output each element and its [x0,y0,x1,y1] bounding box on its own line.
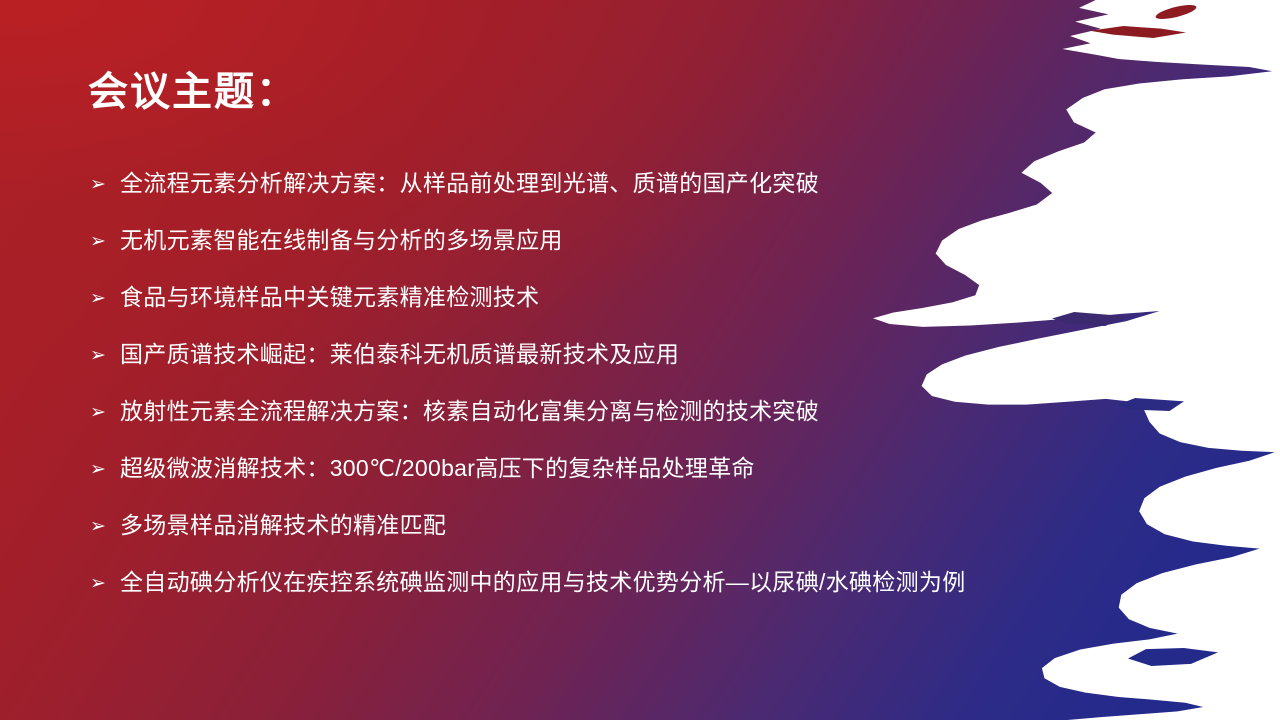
arrowhead-bullet-icon: ➢ [90,517,120,536]
page-title: 会议主题： [88,70,298,114]
arrowhead-bullet-icon: ➢ [90,232,120,251]
list-item-label: 全流程元素分析解决方案：从样品前处理到光谱、质谱的国产化突破 [120,170,1210,198]
list-item-label: 食品与环境样品中关键元素精准检测技术 [120,284,1210,312]
arrowhead-bullet-icon: ➢ [90,346,120,365]
presentation-slide: 会议主题： ➢ 全流程元素分析解决方案：从样品前处理到光谱、质谱的国产化突破 ➢… [0,0,1280,720]
list-item-label: 国产质谱技术崛起：莱伯泰科无机质谱最新技术及应用 [120,341,1210,369]
list-item: ➢ 食品与环境样品中关键元素精准检测技术 [90,284,1210,341]
list-item: ➢ 无机元素智能在线制备与分析的多场景应用 [90,227,1210,284]
slide-content: 会议主题： ➢ 全流程元素分析解决方案：从样品前处理到光谱、质谱的国产化突破 ➢… [0,0,1280,720]
list-item-label: 无机元素智能在线制备与分析的多场景应用 [120,227,1210,255]
arrowhead-bullet-icon: ➢ [90,175,120,194]
list-item: ➢ 全流程元素分析解决方案：从样品前处理到光谱、质谱的国产化突破 [90,170,1210,227]
arrowhead-bullet-icon: ➢ [90,289,120,308]
arrowhead-bullet-icon: ➢ [90,574,120,593]
list-item: ➢ 放射性元素全流程解决方案：核素自动化富集分离与检测的技术突破 [90,398,1210,455]
list-item-label: 放射性元素全流程解决方案：核素自动化富集分离与检测的技术突破 [120,398,1210,426]
arrowhead-bullet-icon: ➢ [90,403,120,422]
topic-list: ➢ 全流程元素分析解决方案：从样品前处理到光谱、质谱的国产化突破 ➢ 无机元素智… [90,170,1210,626]
arrowhead-bullet-icon: ➢ [90,460,120,479]
list-item-label: 多场景样品消解技术的精准匹配 [120,512,1210,540]
list-item: ➢ 多场景样品消解技术的精准匹配 [90,512,1210,569]
list-item-label: 超级微波消解技术：300℃/200bar高压下的复杂样品处理革命 [120,455,1210,483]
list-item: ➢ 超级微波消解技术：300℃/200bar高压下的复杂样品处理革命 [90,455,1210,512]
list-item-label: 全自动碘分析仪在疾控系统碘监测中的应用与技术优势分析—以尿碘/水碘检测为例 [120,569,1210,597]
list-item: ➢ 国产质谱技术崛起：莱伯泰科无机质谱最新技术及应用 [90,341,1210,398]
list-item: ➢ 全自动碘分析仪在疾控系统碘监测中的应用与技术优势分析—以尿碘/水碘检测为例 [90,569,1210,626]
